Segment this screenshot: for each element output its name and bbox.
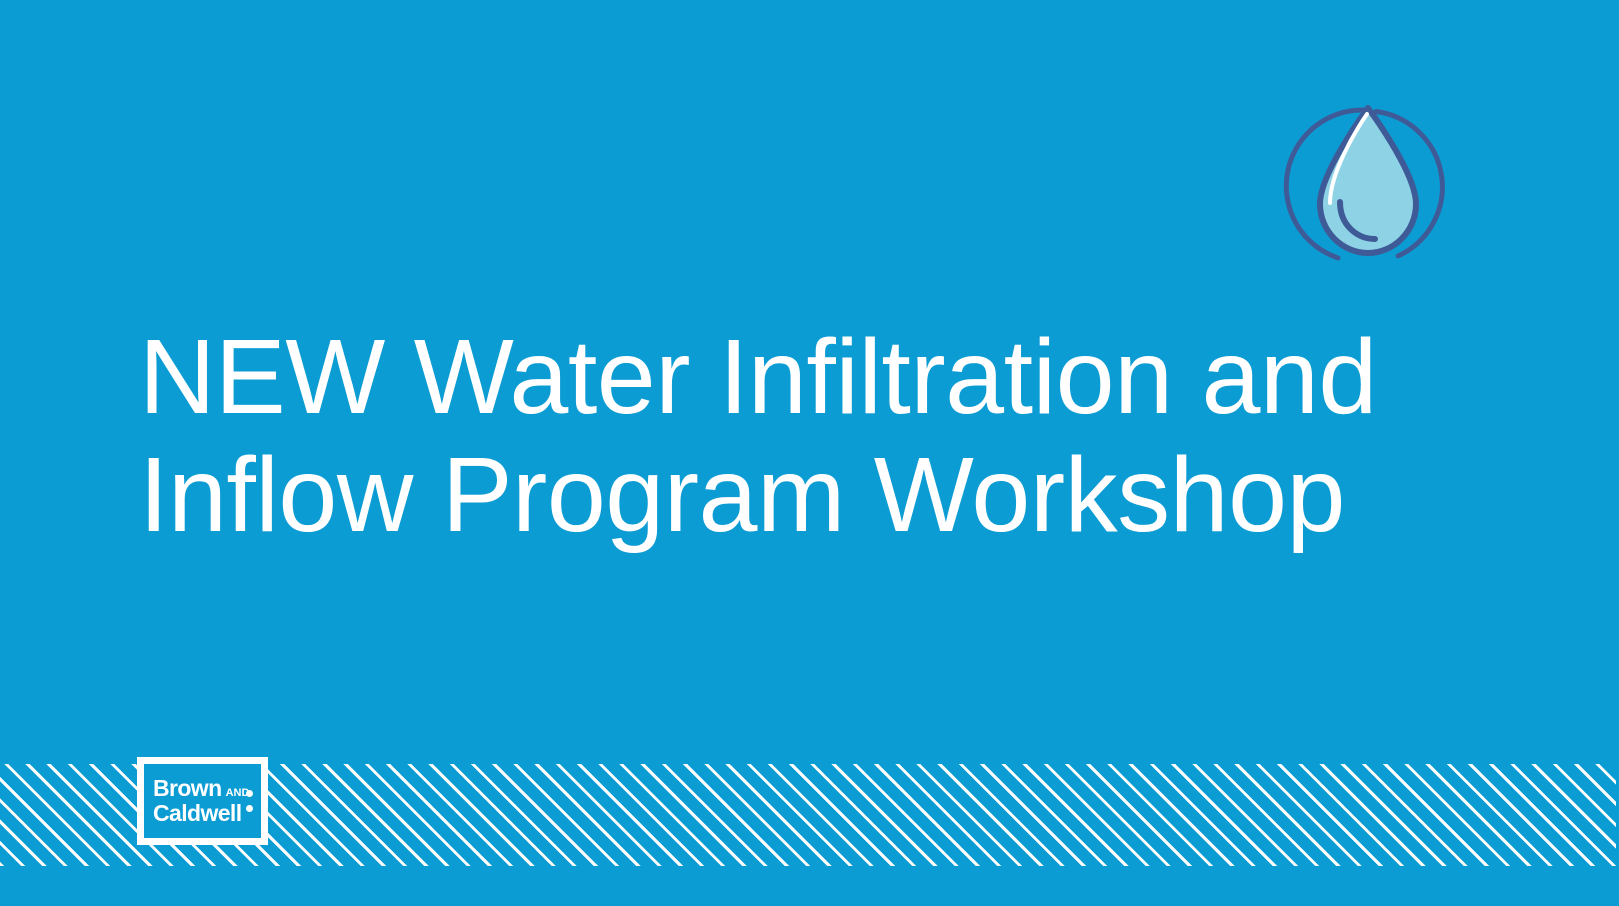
logo-text-caldwell: Caldwell xyxy=(153,802,242,825)
logo-line-1: Brown AND xyxy=(153,777,249,800)
water-drop-icon xyxy=(1276,98,1452,274)
title-line-2: Inflow Program Workshop xyxy=(139,436,1439,554)
presentation-slide: NEW Water Infiltration and Inflow Progra… xyxy=(0,0,1619,906)
logo-wordmark: Brown AND Caldwell xyxy=(153,777,249,825)
logo-dot-lower xyxy=(246,805,253,812)
title-line-1: NEW Water Infiltration and xyxy=(139,318,1439,436)
teardrop-shape-icon xyxy=(1320,108,1416,253)
page-title: NEW Water Infiltration and Inflow Progra… xyxy=(139,318,1439,554)
brown-and-caldwell-logo: Brown AND Caldwell xyxy=(137,757,268,845)
logo-line-2: Caldwell xyxy=(153,802,249,825)
logo-text-brown: Brown xyxy=(153,777,222,800)
logo-colon-mark-icon xyxy=(246,790,253,812)
logo-dot-upper xyxy=(246,790,253,797)
